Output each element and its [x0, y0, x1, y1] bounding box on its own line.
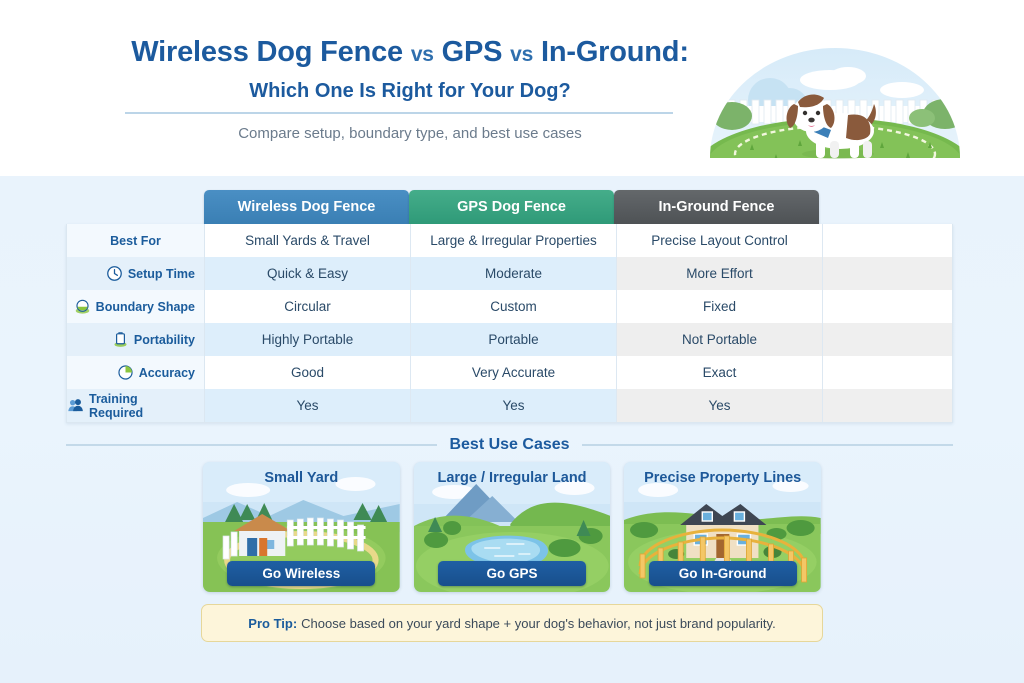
cell-wireless: Good	[205, 356, 411, 389]
use-case-card-precise-property-lines[interactable]: Precise Property Lines Go In-Ground	[624, 462, 821, 592]
header: Wireless Dog Fence vs GPS vs In-Ground: …	[0, 0, 1024, 176]
table-header-gps: GPS Dog Fence	[409, 190, 614, 224]
title-part-1: Wireless Dog Fence	[131, 36, 403, 68]
cell-in-ground: More Effort	[617, 257, 823, 290]
table-row: Setup Time Quick & Easy Moderate More Ef…	[67, 257, 952, 290]
go-in-ground-button[interactable]: Go In-Ground	[649, 561, 797, 586]
cell-gps: Custom	[411, 290, 617, 323]
row-label-portability: Portability	[67, 323, 205, 356]
cell-wireless: Quick & Easy	[205, 257, 411, 290]
row-label-boundary-shape: Boundary Shape	[67, 290, 205, 323]
card-title: Large / Irregular Land	[414, 470, 611, 486]
row-label-text: Boundary Shape	[96, 300, 195, 314]
cell-empty	[823, 323, 952, 356]
infographic-page: Wireless Dog Fence vs GPS vs In-Ground: …	[0, 0, 1024, 683]
go-wireless-button[interactable]: Go Wireless	[227, 561, 375, 586]
table-row: Portability Highly Portable Portable Not…	[67, 323, 952, 356]
title-vs-2: vs	[510, 43, 533, 66]
table-header-in-ground: In-Ground Fence	[614, 190, 819, 224]
table-header-wireless: Wireless Dog Fence	[204, 190, 409, 224]
comparison-table: Wireless Dog Fence GPS Dog Fence In-Grou…	[66, 190, 953, 423]
table-row: Best For Small Yards & Travel Large & Ir…	[67, 224, 952, 257]
people-icon	[67, 397, 84, 414]
table-header-spacer	[66, 190, 204, 224]
cell-gps: Very Accurate	[411, 356, 617, 389]
title-part-2: GPS	[442, 36, 503, 68]
cell-empty	[823, 389, 952, 422]
cell-gps: Yes	[411, 389, 617, 422]
cell-gps: Moderate	[411, 257, 617, 290]
go-gps-button[interactable]: Go GPS	[438, 561, 586, 586]
cell-empty	[823, 224, 952, 257]
page-subtitle: Which One Is Right for Your Dog?	[110, 80, 710, 103]
cell-in-ground: Fixed	[617, 290, 823, 323]
table-row: Training Required Yes Yes Yes	[67, 389, 952, 422]
pie-chart-icon	[117, 364, 134, 381]
table-row: Accuracy Good Very Accurate Exact	[67, 356, 952, 389]
row-label-text: Best For	[110, 234, 161, 248]
pro-tip-label: Pro Tip:	[248, 616, 297, 631]
cell-wireless: Small Yards & Travel	[205, 224, 411, 257]
cell-wireless: Yes	[205, 389, 411, 422]
row-label-accuracy: Accuracy	[67, 356, 205, 389]
pro-tip-banner: Pro Tip: Choose based on your yard shape…	[201, 604, 823, 642]
table-header-empty	[819, 190, 953, 224]
row-label-training-required: Training Required	[67, 389, 205, 422]
clock-icon	[106, 265, 123, 282]
best-use-cases-title: Best Use Cases	[449, 436, 569, 454]
use-case-cards: Small Yard Go Wireless	[203, 462, 821, 592]
table-body: Best For Small Yards & Travel Large & Ir…	[66, 224, 953, 423]
cell-in-ground: Precise Layout Control	[617, 224, 823, 257]
row-label-best-for: Best For	[67, 224, 205, 257]
title-part-3: In-Ground:	[541, 36, 689, 68]
cell-in-ground: Yes	[617, 389, 823, 422]
title-divider	[125, 112, 673, 114]
page-tagline: Compare setup, boundary type, and best u…	[110, 125, 710, 142]
row-label-text: Accuracy	[139, 366, 195, 380]
card-title: Small Yard	[203, 470, 400, 486]
heading-rule-left	[66, 444, 437, 446]
title-vs-1: vs	[411, 43, 434, 66]
row-label-text: Setup Time	[128, 267, 195, 281]
use-case-card-large-irregular-land[interactable]: Large / Irregular Land Go GPS	[414, 462, 611, 592]
best-use-cases-heading: Best Use Cases	[66, 432, 953, 458]
suitcase-icon	[112, 331, 129, 348]
cell-in-ground: Not Portable	[617, 323, 823, 356]
card-title: Precise Property Lines	[624, 470, 821, 486]
cell-wireless: Highly Portable	[205, 323, 411, 356]
table-header-row: Wireless Dog Fence GPS Dog Fence In-Grou…	[66, 190, 953, 224]
cell-empty	[823, 356, 952, 389]
row-label-text: Training Required	[89, 392, 195, 420]
cell-in-ground: Exact	[617, 356, 823, 389]
page-title: Wireless Dog Fence vs GPS vs In-Ground:	[110, 36, 710, 69]
row-label-text: Portability	[134, 333, 195, 347]
table-row: Boundary Shape Circular Custom Fixed	[67, 290, 952, 323]
row-label-setup-time: Setup Time	[67, 257, 205, 290]
cell-wireless: Circular	[205, 290, 411, 323]
cell-gps: Portable	[411, 323, 617, 356]
cell-gps: Large & Irregular Properties	[411, 224, 617, 257]
heading-rule-right	[582, 444, 953, 446]
cell-empty	[823, 257, 952, 290]
dog-in-fenced-yard-icon	[670, 28, 1000, 168]
use-case-card-small-yard[interactable]: Small Yard Go Wireless	[203, 462, 400, 592]
cell-empty	[823, 290, 952, 323]
circle-field-icon	[74, 298, 91, 315]
pro-tip-text: Choose based on your yard shape + your d…	[301, 616, 776, 631]
